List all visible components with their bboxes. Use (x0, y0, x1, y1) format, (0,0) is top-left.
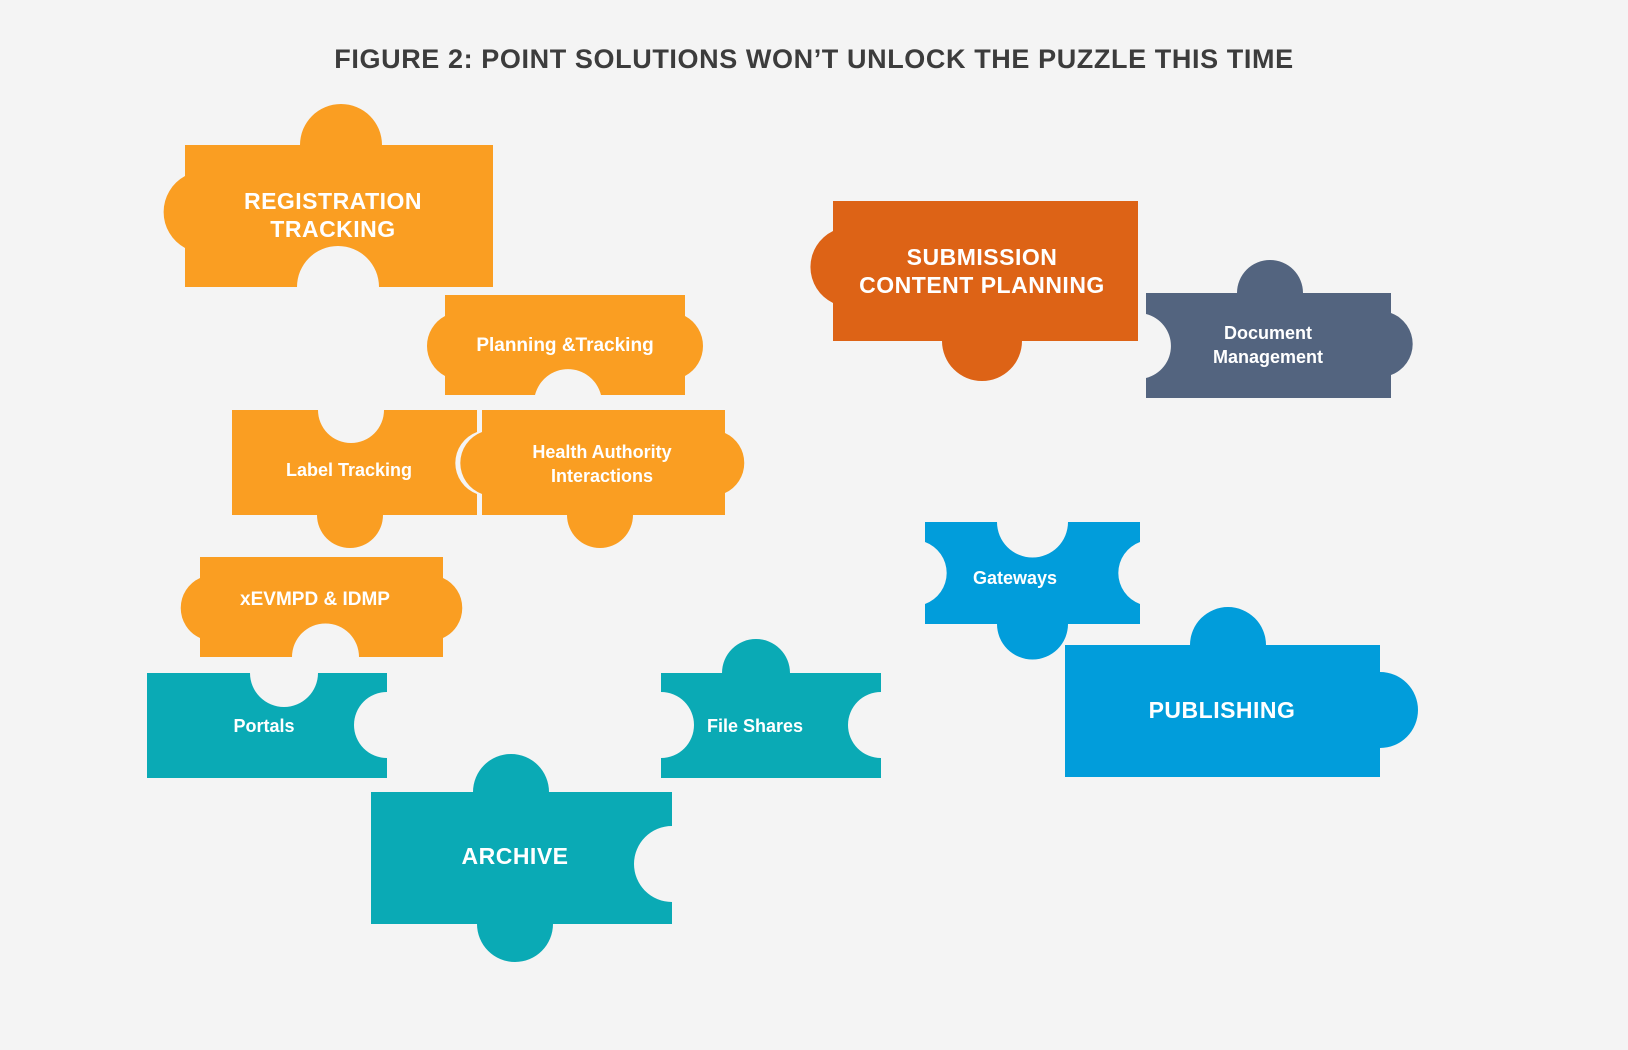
archive-label: ARCHIVE (461, 843, 568, 869)
submission-content-planning-label-line2: CONTENT PLANNING (859, 272, 1105, 298)
health-authority-interactions-label-line2: Interactions (551, 466, 653, 486)
puzzle-piece-document-management[interactable]: Document Management (1146, 260, 1413, 398)
file-shares-shape (661, 639, 881, 778)
submission-content-planning-label-line1: SUBMISSION (907, 244, 1058, 270)
puzzle-piece-xevmpd-idmp[interactable]: xEVMPD & IDMP (181, 557, 463, 657)
portals-label: Portals (233, 716, 294, 736)
document-management-label-line1: Document (1224, 323, 1312, 343)
file-shares-label: File Shares (707, 716, 803, 736)
puzzle-piece-health-authority-interactions[interactable]: Health Authority Interactions (460, 410, 744, 548)
gateways-shape (925, 522, 1140, 660)
puzzle-piece-label-tracking[interactable]: Label Tracking (232, 410, 477, 548)
health-authority-interactions-label-line1: Health Authority (532, 442, 671, 462)
gateways-label: Gateways (973, 568, 1057, 588)
registration-tracking-label-line2: TRACKING (270, 216, 395, 242)
puzzle-piece-planning-tracking[interactable]: Planning &Tracking (427, 295, 703, 395)
puzzle-piece-submission-content-planning[interactable]: SUBMISSION CONTENT PLANNING (810, 201, 1138, 381)
label-tracking-label: Label Tracking (286, 460, 412, 480)
puzzle-piece-file-shares[interactable]: File Shares (661, 639, 881, 778)
puzzle-piece-portals[interactable]: Portals (147, 673, 387, 778)
puzzle-piece-registration-tracking[interactable]: REGISTRATION TRACKING (164, 104, 493, 287)
puzzle-piece-archive[interactable]: ARCHIVE (371, 754, 672, 962)
document-management-label-line2: Management (1213, 347, 1323, 367)
puzzle-diagram: REGISTRATION TRACKING Planning &Tracking… (0, 0, 1628, 1050)
planning-tracking-label: Planning &Tracking (476, 335, 653, 356)
publishing-label: PUBLISHING (1149, 697, 1296, 723)
xevmpd-idmp-label: xEVMPD & IDMP (240, 589, 390, 610)
publishing-shape (1065, 607, 1418, 777)
figure-container: FIGURE 2: POINT SOLUTIONS WON’T UNLOCK T… (0, 0, 1628, 1050)
registration-tracking-label-line1: REGISTRATION (244, 188, 422, 214)
puzzle-piece-publishing[interactable]: PUBLISHING (1065, 607, 1418, 777)
puzzle-piece-gateways[interactable]: Gateways (925, 522, 1140, 660)
